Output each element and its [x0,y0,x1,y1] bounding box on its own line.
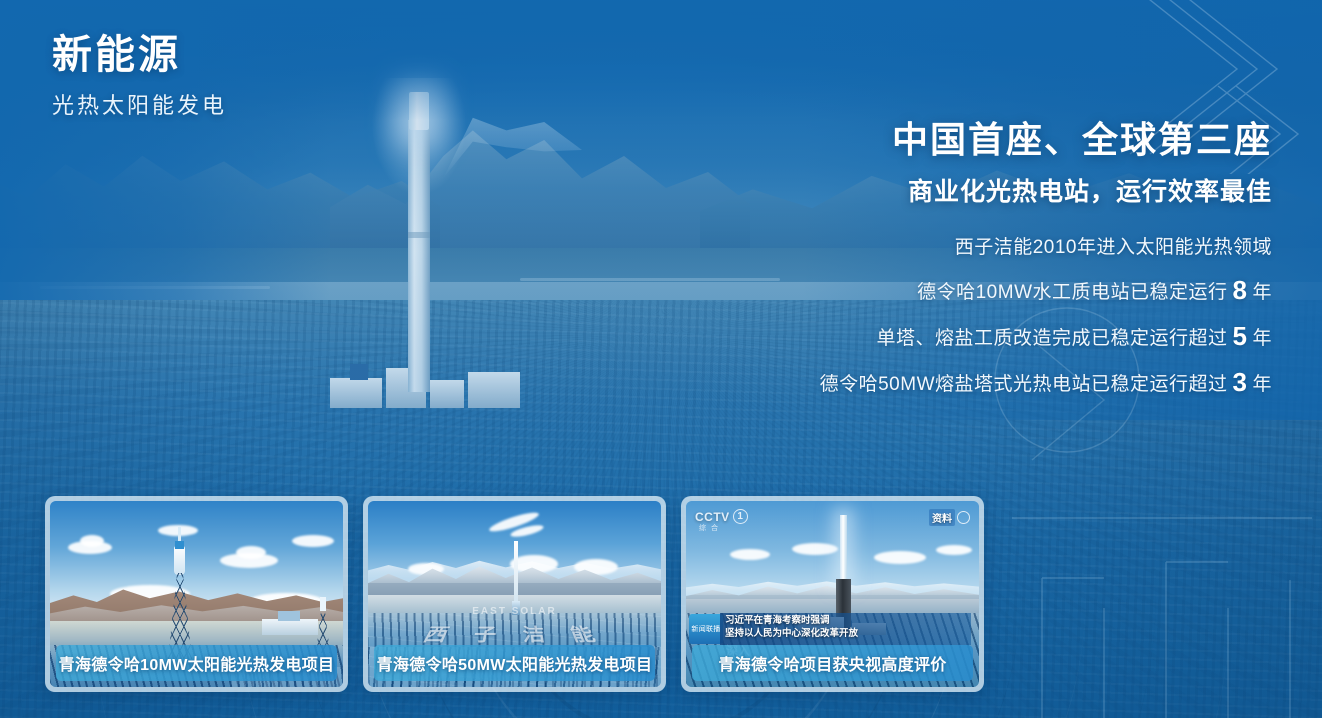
fact-item: 德令哈10MW水工质电站已稳定运行8年 [712,277,1272,303]
thumbnail-card-10mw[interactable]: 青海德令哈10MW太阳能光热发电项目 [45,496,348,692]
news-program-name: 新闻联播 [691,624,720,634]
fact-number: 5 [1228,321,1253,351]
fact-item: 西子洁能2010年进入太阳能光热领域 [712,238,1272,257]
thumbnail-caption-text: 青海德令哈项目获央视高度评价 [718,651,946,675]
thumbnail-caption-text: 青海德令哈50MW太阳能光热发电项目 [377,651,653,675]
news-program-badge: 新闻联播 [689,614,723,644]
fact-text: 西子洁能2010年进入太阳能光热领域 [955,237,1272,258]
news-ticker: 新闻联播 习近平在青海考察时强调 坚持以人民为中心深化改革开放 深入 [686,613,979,647]
slide-title-block: 新能源 光热太阳能发电 [52,32,227,120]
headline-secondary: 商业化光热电站，运行效率最佳 [712,172,1272,208]
project-thumbnail-row: 青海德令哈10MW太阳能光热发电项目 EAST SOL [45,496,984,692]
cctv-channel-name: 综合 [699,523,723,533]
field-watermark-sub: EAST SOLAR [368,606,661,617]
cctv-logo: CCTV 1 [695,509,748,524]
page-title: 新能源 [52,32,227,78]
fact-number: 8 [1228,275,1253,305]
archive-badge-text: 资料 [929,509,955,526]
fact-text: 单塔、熔盐工质改造完成已稳定运行超过 [877,328,1228,349]
cctv-channel-number: 1 [733,509,748,524]
fact-text: 德令哈10MW水工质电站已稳定运行 [917,282,1227,303]
thumbnail-caption: 青海德令哈项目获央视高度评价 [692,645,973,681]
thumbnail-image-50mw: EAST SOLAR 西 子 洁 能 青海德令哈50MW太阳能光热发电项目 [368,501,661,687]
fact-list: 西子洁能2010年进入太阳能光热领域 德令哈10MW水工质电站已稳定运行8年 单… [712,238,1272,395]
fact-unit: 年 [1252,282,1272,303]
thumbnail-caption: 青海德令哈10MW太阳能光热发电项目 [56,645,337,681]
archive-badge: 资料 [929,509,970,526]
archive-badge-ring [957,511,970,524]
news-headline-line1: 习近平在青海考察时强调 [725,615,966,628]
news-headline-line2: 坚持以人民为中心深化改革开放 [725,628,966,641]
fact-item: 德令哈50MW熔盐塔式光热电站已稳定运行超过3年 [712,369,1272,395]
page-subtitle: 光热太阳能发电 [52,88,227,120]
field-watermark: 西 子 洁 能 [368,621,661,646]
thumbnail-caption: 青海德令哈50MW太阳能光热发电项目 [374,645,655,681]
thumbnail-image-cctv: CCTV 1 综合 资料 新闻联播 习近平在青海考察时强调 坚持以人民为中心深化… [686,501,979,687]
thumbnail-card-50mw[interactable]: EAST SOLAR 西 子 洁 能 青海德令哈50MW太阳能光热发电项目 [363,496,666,692]
presentation-slide: 新能源 光热太阳能发电 中国首座、全球第三座 商业化光热电站，运行效率最佳 西子… [0,0,1322,718]
fact-unit: 年 [1252,374,1272,395]
thumbnail-image-10mw: 青海德令哈10MW太阳能光热发电项目 [50,501,343,687]
thumbnail-card-cctv[interactable]: CCTV 1 综合 资料 新闻联播 习近平在青海考察时强调 坚持以人民为中心深化… [681,496,984,692]
fact-number: 3 [1228,367,1253,397]
fact-item: 单塔、熔盐工质改造完成已稳定运行超过5年 [712,323,1272,349]
fact-text: 德令哈50MW熔盐塔式光热电站已稳定运行超过 [820,374,1228,395]
headline-primary: 中国首座、全球第三座 [712,118,1272,162]
cctv-wordmark: CCTV [695,510,730,524]
headline-block: 中国首座、全球第三座 商业化光热电站，运行效率最佳 西子洁能2010年进入太阳能… [712,118,1272,415]
news-ticker-bar: 习近平在青海考察时强调 坚持以人民为中心深化改革开放 [720,613,971,645]
thumbnail-caption-text: 青海德令哈10MW太阳能光热发电项目 [59,651,335,675]
fact-unit: 年 [1252,328,1272,349]
